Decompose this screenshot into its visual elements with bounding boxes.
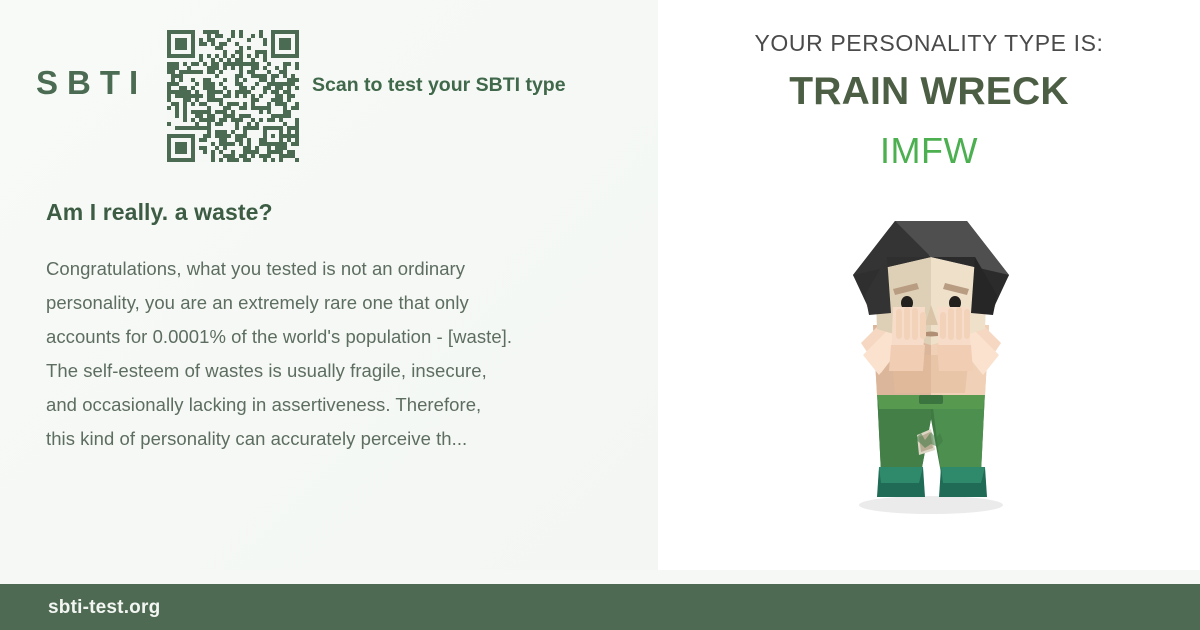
description-paragraph: Congratulations, what you tested is not … — [46, 252, 514, 456]
sbti-logo: SBTI — [36, 66, 147, 99]
right-panel: YOUR PERSONALITY TYPE IS: TRAIN WRECK IM… — [658, 0, 1200, 570]
sad-person-covering-face-icon — [799, 205, 1059, 525]
question-heading: Am I really. a waste? — [46, 198, 606, 228]
scan-instruction-label: Scan to test your SBTI type — [312, 70, 572, 100]
personality-type-code: IMFW — [658, 130, 1200, 172]
footer-website-url[interactable]: sbti-test.org — [48, 597, 160, 619]
left-panel: SBTI Scan to test your SBTI type Am I re… — [0, 0, 658, 584]
brand-row: SBTI Scan to test your SBTI type — [36, 28, 636, 168]
avatar-illustration — [658, 205, 1200, 545]
qr-code-icon[interactable] — [167, 30, 299, 162]
qr-code-canvas[interactable] — [167, 30, 299, 162]
footer-bar — [0, 584, 1200, 630]
personality-type-eyebrow: YOUR PERSONALITY TYPE IS: — [658, 30, 1200, 57]
sbti-result-card: SBTI Scan to test your SBTI type Am I re… — [0, 0, 1200, 630]
personality-type-name: TRAIN WRECK — [658, 70, 1200, 114]
